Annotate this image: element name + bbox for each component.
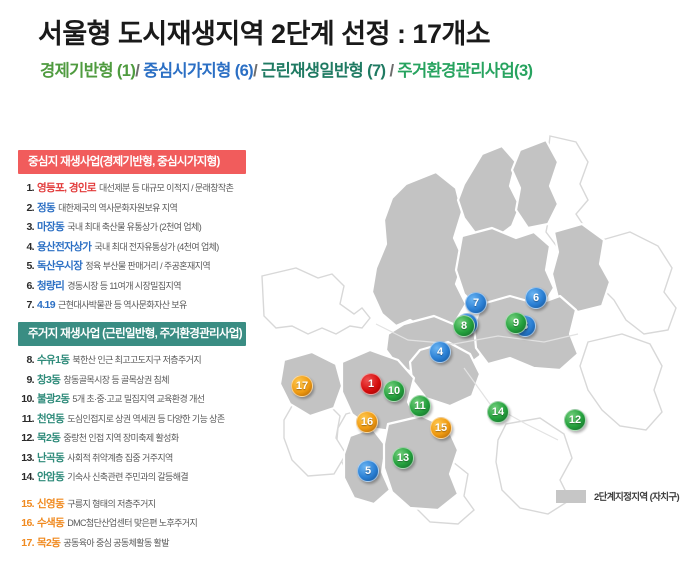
list-item-description: 기숙사 신축관련 주민과의 갈등해결 xyxy=(67,473,188,482)
map-marker-15[interactable]: 15 xyxy=(430,417,452,439)
list-item-name: 창3동 xyxy=(37,375,60,386)
list-item-name: 용산전자상가 xyxy=(37,242,91,253)
list-item-description: 5개 초·중·고교 밀집지역 교육환경 개선 xyxy=(72,395,204,404)
list-item[interactable]: 14.안암동기숙사 신축관련 주민과의 갈등해결 xyxy=(18,472,246,483)
map-marker-label: 11 xyxy=(414,401,426,412)
subtitle: 경제기반형 (1)/ 중심시가지형 (6)/ 근린재생일반형 (7) / 주거환… xyxy=(40,57,532,81)
list-item-number: 5. xyxy=(18,261,34,272)
list-item[interactable]: 16.수색동DMC첨단산업센터 맞은편 노후주거지 xyxy=(18,518,246,529)
map-marker-label: 12 xyxy=(569,415,581,426)
map-marker-label: 1 xyxy=(368,379,374,390)
map-marker-label: 13 xyxy=(397,453,409,464)
subtitle-part-neighborhood: 근린재생일반형 (7) xyxy=(261,62,385,80)
subtitle-part-central: 중심시가지형 (6) xyxy=(143,62,253,80)
map-marker-label: 10 xyxy=(388,386,400,397)
list-item-name: 수색동 xyxy=(37,518,64,529)
subtitle-part-residential: 주거환경관리사업(3) xyxy=(397,62,532,80)
subtitle-separator-1: / xyxy=(135,62,139,80)
list-item-number: 7. xyxy=(18,300,34,311)
legend-swatch-icon xyxy=(556,490,586,503)
list-item-number: 3. xyxy=(18,222,34,233)
list-item-name: 정동 xyxy=(37,203,55,214)
list-item[interactable]: 7.4.19근현대사박물관 등 역사문화자산 보유 xyxy=(18,300,246,311)
list-item-number: 13. xyxy=(18,453,34,464)
list-item-number: 4. xyxy=(18,242,34,253)
map-marker-label: 4 xyxy=(437,347,443,358)
map-marker-7[interactable]: 7 xyxy=(465,292,487,314)
header: 서울형 도시재생지역 2단계 선정 : 17개소 경제기반형 (1)/ 중심시가… xyxy=(0,0,700,100)
list-item[interactable]: 10.불광2동5개 초·중·고교 밀집지역 교육환경 개선 xyxy=(18,394,246,405)
list-item-description: 구릉지 형태의 저층주거지 xyxy=(67,500,155,509)
list-item-name: 영등포, 경인로 xyxy=(37,183,96,194)
list-item-number: 16. xyxy=(18,518,34,529)
map-legend-label: 2단계지정지역 (자치구) xyxy=(594,489,679,503)
list-item-description: 근현대사박물관 등 역사문화자산 보유 xyxy=(58,301,187,310)
list-item-name: 독산우시장 xyxy=(37,261,82,272)
list-item-name: 수유1동 xyxy=(37,355,69,366)
map-marker-6[interactable]: 6 xyxy=(525,287,547,309)
list-item[interactable]: 6.청량리경동시장 등 11여개 시장밀집지역 xyxy=(18,281,246,292)
list-item-description: 도심인접지로 상권 역세권 등 다양한 기능 상존 xyxy=(67,415,224,424)
list-item-number: 12. xyxy=(18,433,34,444)
map-marker-14[interactable]: 14 xyxy=(487,401,509,423)
map-marker-16[interactable]: 16 xyxy=(356,411,378,433)
list-item-number: 10. xyxy=(18,394,34,405)
list-item-description: 대선제분 등 대규모 이적지 / 문래창작촌 xyxy=(99,184,233,193)
list-item-name: 청량리 xyxy=(37,281,64,292)
list-item-description: 대한제국의 역사문화자원보유 지역 xyxy=(58,204,177,213)
panel-b-band-label: 주거지 재생사업 (근린일반형, 주거환경관리사업) xyxy=(18,322,246,346)
map-marker-label: 15 xyxy=(435,423,447,434)
list-item-number: 17. xyxy=(18,538,34,549)
list-item[interactable]: 13.난곡동사회적 취약계층 집중 거주지역 xyxy=(18,453,246,464)
seoul-map[interactable]: 1234567891011121314151617 xyxy=(258,128,700,528)
panel-residential-regeneration: 주거지 재생사업 (근린일반형, 주거환경관리사업) 8.수유1동북한산 인근 … xyxy=(18,322,246,548)
list-item-number: 9. xyxy=(18,375,34,386)
infographic-page: 서울형 도시재생지역 2단계 선정 : 17개소 경제기반형 (1)/ 중심시가… xyxy=(0,0,700,563)
seoul-map-svg xyxy=(258,128,700,528)
panel-a-list: 1.영등포, 경인로대선제분 등 대규모 이적지 / 문래창작촌2.정동대한제국… xyxy=(18,183,246,311)
map-marker-11[interactable]: 11 xyxy=(409,395,431,417)
list-item[interactable]: 2.정동대한제국의 역사문화자원보유 지역 xyxy=(18,203,246,214)
list-item[interactable]: 1.영등포, 경인로대선제분 등 대규모 이적지 / 문래창작촌 xyxy=(18,183,246,194)
subtitle-separator-2: / xyxy=(253,62,257,80)
panel-central-regeneration: 중심지 재생사업(경제기반형, 중심시가지형) 1.영등포, 경인로대선제분 등… xyxy=(18,150,246,311)
map-marker-label: 6 xyxy=(533,293,539,304)
panel-b-list: 8.수유1동북한산 인근 최고고도지구 저층주거지9.창3동창동골목시장 등 골… xyxy=(18,355,246,548)
list-item-name: 목2동 xyxy=(37,538,60,549)
list-item-number: 15. xyxy=(18,499,34,510)
list-item-description: 정육 부산물 판매거리 / 주공혼재지역 xyxy=(85,262,210,271)
panel-a-band-label: 중심지 재생사업(경제기반형, 중심시가지형) xyxy=(18,150,246,174)
list-item-name: 불광2동 xyxy=(37,394,69,405)
list-item-name: 신영동 xyxy=(37,499,64,510)
list-item-number: 11. xyxy=(18,414,34,425)
map-marker-label: 14 xyxy=(492,407,504,418)
list-item-name: 안암동 xyxy=(37,472,64,483)
list-item-number: 1. xyxy=(18,183,34,194)
page-title: 서울형 도시재생지역 2단계 선정 : 17개소 xyxy=(38,12,490,51)
subtitle-separator-3: / xyxy=(389,62,393,80)
list-item-number: 8. xyxy=(18,355,34,366)
list-item-description: 경동시장 등 11여개 시장밀집지역 xyxy=(67,282,181,291)
map-marker-1[interactable]: 1 xyxy=(360,373,382,395)
list-item-number: 14. xyxy=(18,472,34,483)
map-marker-label: 17 xyxy=(296,381,308,392)
map-marker-5[interactable]: 5 xyxy=(357,460,379,482)
list-gap xyxy=(18,483,246,490)
list-item-description: 창동골목시장 등 골목상권 침체 xyxy=(63,376,169,385)
map-marker-12[interactable]: 12 xyxy=(564,409,586,431)
list-item-description: 공동육아 중심 공동체활동 활발 xyxy=(63,539,169,548)
map-marker-label: 16 xyxy=(361,417,373,428)
list-item-description: 북한산 인근 최고고도지구 저층주거지 xyxy=(72,356,201,365)
list-item-description: 국내 최대 전자유통상가 (4천여 업체) xyxy=(94,243,218,252)
list-item-number: 2. xyxy=(18,203,34,214)
list-item[interactable]: 15.신영동구릉지 형태의 저층주거지 xyxy=(18,499,246,510)
list-item[interactable]: 8.수유1동북한산 인근 최고고도지구 저층주거지 xyxy=(18,355,246,366)
list-item[interactable]: 11.천연동도심인접지로 상권 역세권 등 다양한 기능 상존 xyxy=(18,414,246,425)
map-marker-13[interactable]: 13 xyxy=(392,447,414,469)
map-marker-8[interactable]: 8 xyxy=(453,315,475,337)
list-item-name: 난곡동 xyxy=(37,453,64,464)
list-item-number: 6. xyxy=(18,281,34,292)
list-item-name: 4.19 xyxy=(37,300,55,311)
map-marker-label: 9 xyxy=(513,318,519,329)
map-marker-label: 8 xyxy=(461,321,467,332)
list-item-description: DMC첨단산업센터 맞은편 노후주거지 xyxy=(67,519,197,528)
list-item-description: 사회적 취약계층 집중 거주지역 xyxy=(67,454,173,463)
list-item-name: 묵2동 xyxy=(37,433,60,444)
list-item-name: 천연동 xyxy=(37,414,64,425)
map-marker-4[interactable]: 4 xyxy=(429,341,451,363)
list-item[interactable]: 3.마장동국내 최대 축산물 유통상가 (2천여 업체) xyxy=(18,222,246,233)
map-legend: 2단계지정지역 (자치구) xyxy=(556,489,679,503)
list-item[interactable]: 9.창3동창동골목시장 등 골목상권 침체 xyxy=(18,375,246,386)
map-marker-label: 5 xyxy=(365,466,371,477)
map-marker-10[interactable]: 10 xyxy=(383,380,405,402)
list-item[interactable]: 4.용산전자상가국내 최대 전자유통상가 (4천여 업체) xyxy=(18,242,246,253)
list-item-description: 중랑천 인접 지역 장미축제 활성화 xyxy=(63,434,178,443)
map-marker-17[interactable]: 17 xyxy=(291,375,313,397)
list-item[interactable]: 17.목2동공동육아 중심 공동체활동 활발 xyxy=(18,538,246,549)
list-item-name: 마장동 xyxy=(37,222,64,233)
subtitle-part-economic: 경제기반형 (1) xyxy=(40,62,135,80)
list-item[interactable]: 12.묵2동중랑천 인접 지역 장미축제 활성화 xyxy=(18,433,246,444)
map-marker-9[interactable]: 9 xyxy=(505,312,527,334)
list-item[interactable]: 5.독산우시장정육 부산물 판매거리 / 주공혼재지역 xyxy=(18,261,246,272)
list-item-description: 국내 최대 축산물 유통상가 (2천여 업체) xyxy=(67,223,201,232)
map-marker-label: 7 xyxy=(473,298,479,309)
